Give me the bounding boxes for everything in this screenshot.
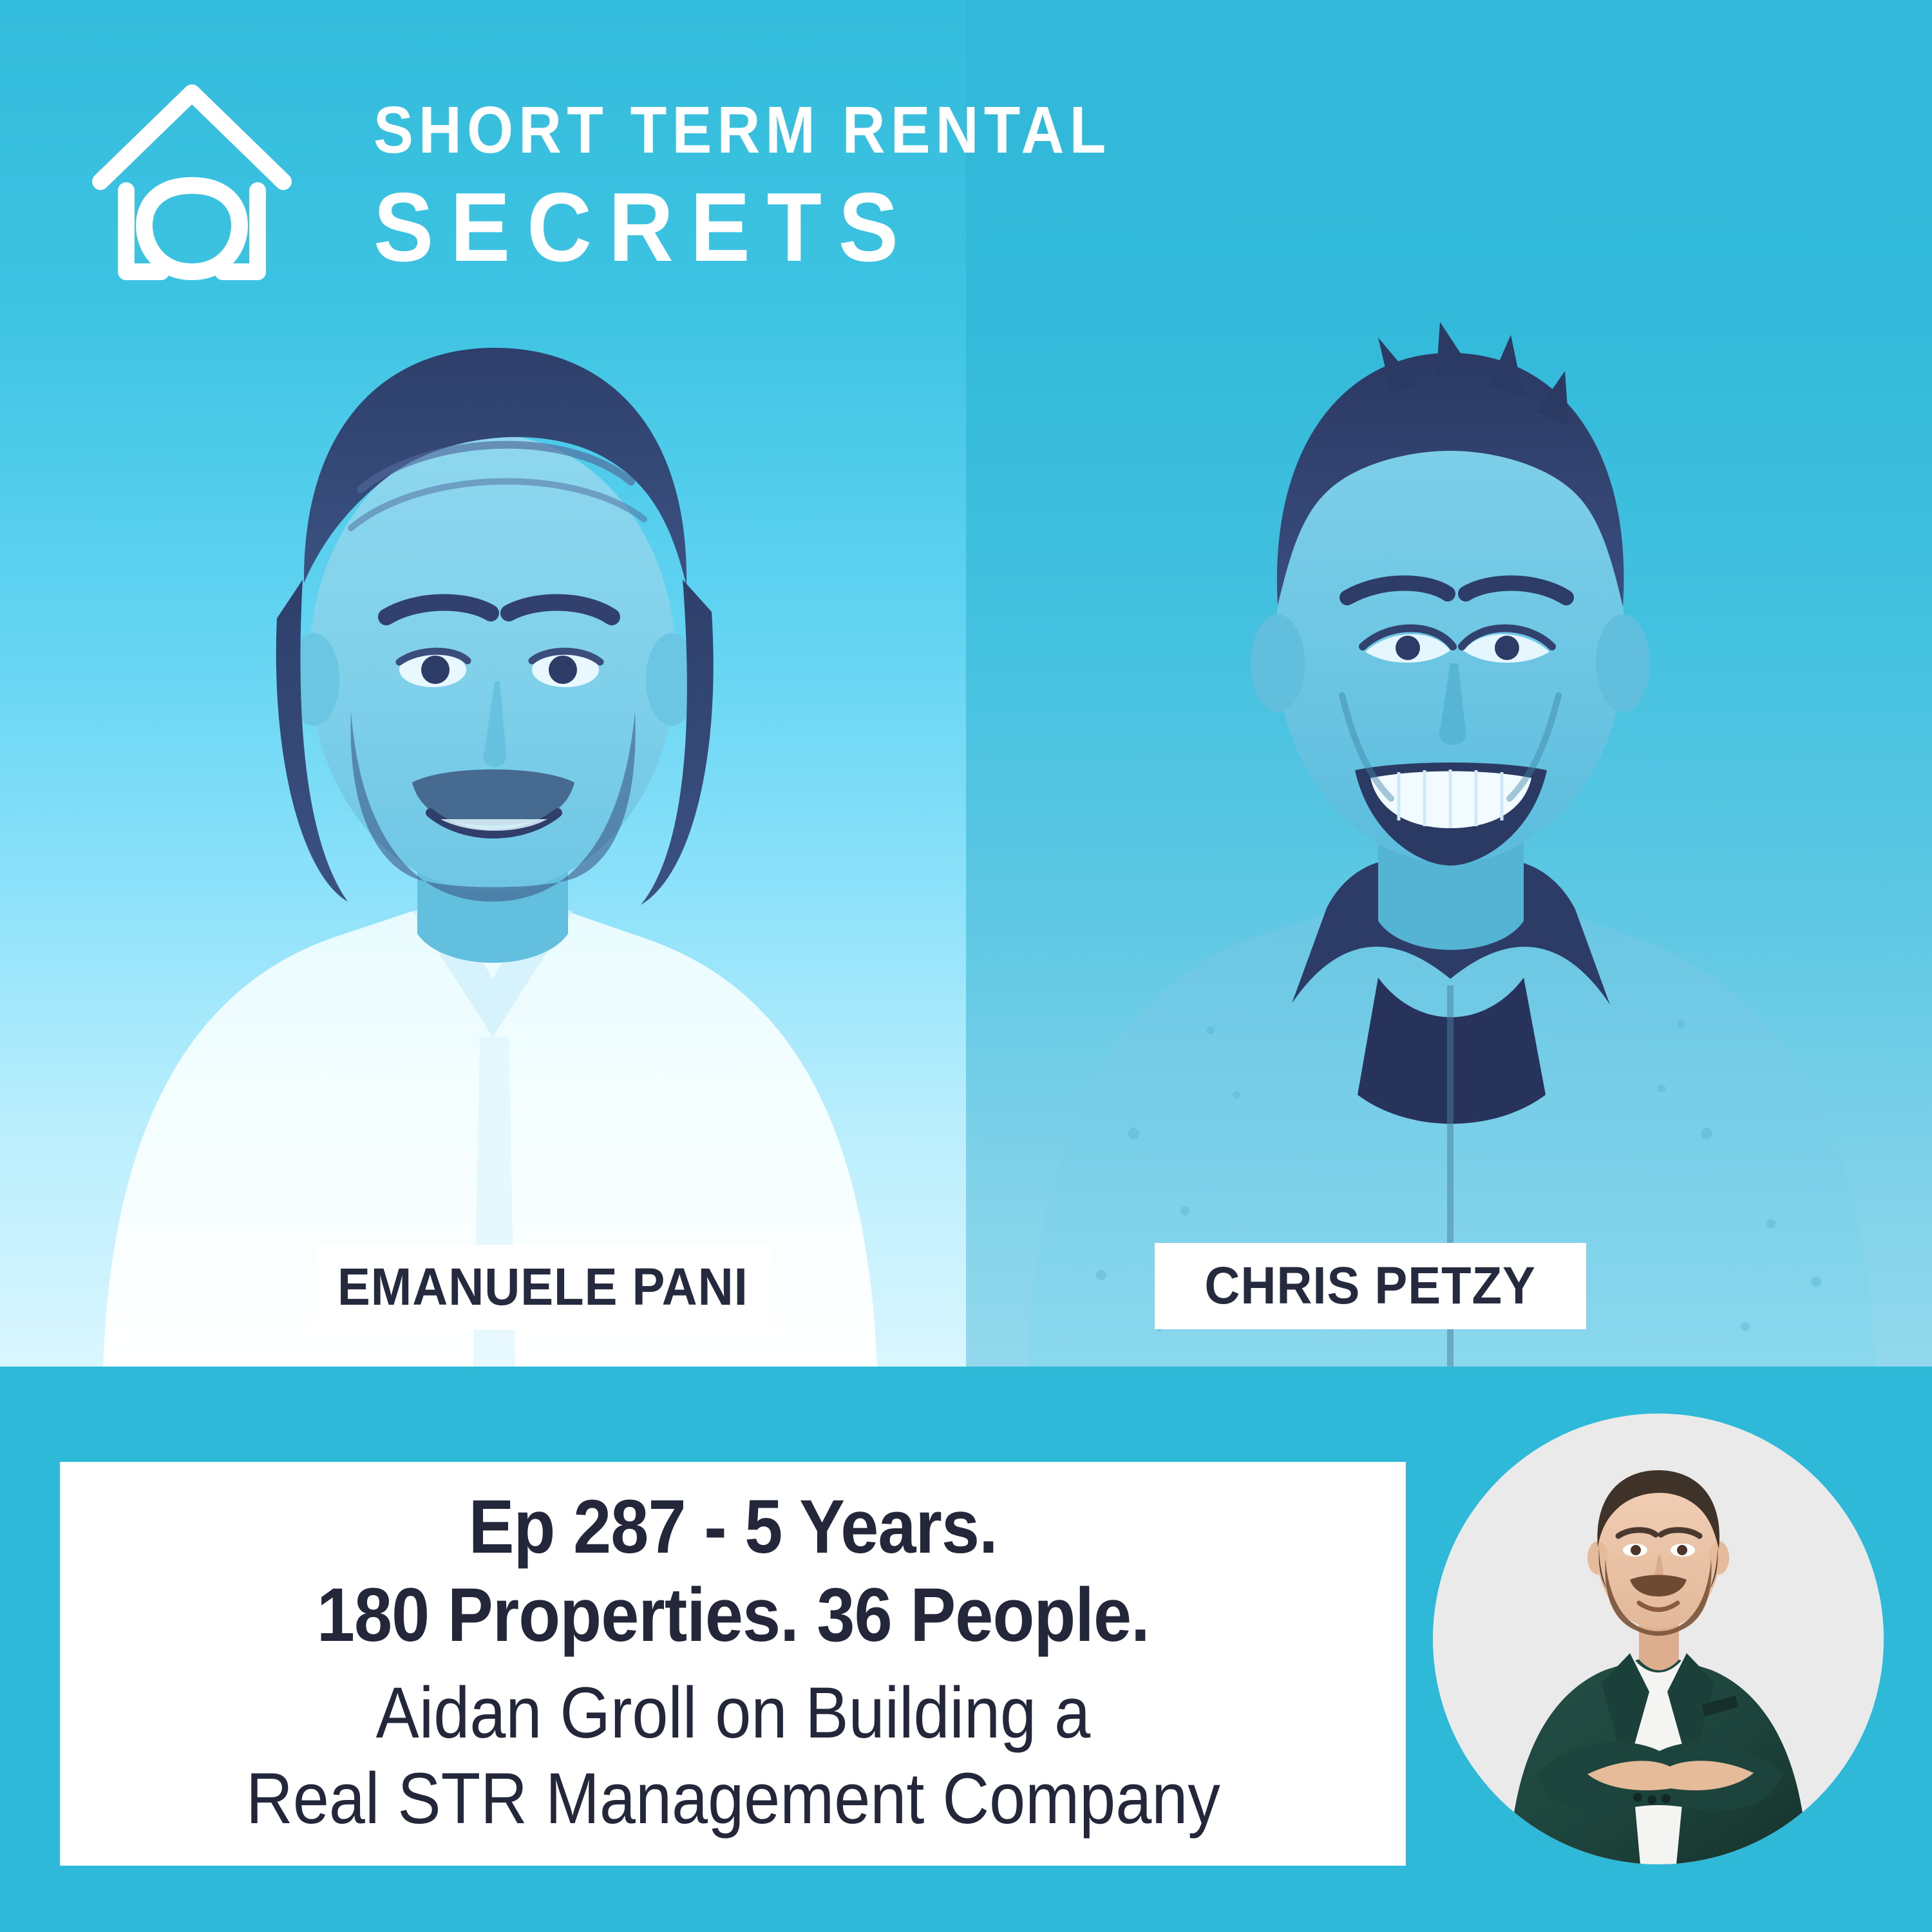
house-with-belo-icon: [89, 64, 295, 283]
host-name-left: EMANUELE PANI: [337, 1261, 748, 1314]
episode-title-line-1: Ep 287 - 5 Years.: [468, 1484, 997, 1570]
episode-title-line-4: Real STR Management Company: [246, 1758, 1220, 1840]
host-nameplate-left: EMANUELE PANI: [316, 1245, 770, 1330]
host-nameplate-right: CHRIS PETZY: [1155, 1243, 1586, 1329]
brand-line-1: SHORT TERM RENTAL: [374, 97, 1243, 163]
brand-wordmark: SHORT TERM RENTAL SECRETS: [374, 97, 1340, 276]
episode-title-line-3: Aidan Groll on Building a: [375, 1672, 1090, 1754]
episode-title-card: Ep 287 - 5 Years. 180 Properties. 36 Peo…: [60, 1462, 1406, 1866]
host-name-right: CHRIS PETZY: [1205, 1260, 1536, 1312]
brand-line-2: SECRETS: [374, 178, 1262, 276]
guest-avatar: [1433, 1414, 1884, 1864]
episode-title-line-2: 180 Properties. 36 People.: [317, 1573, 1150, 1658]
brand-lockup: SHORT TERM RENTAL SECRETS: [0, 0, 1932, 303]
podcast-episode-cover: SHORT TERM RENTAL SECRETS EMANUELE PANI …: [0, 0, 1932, 1932]
